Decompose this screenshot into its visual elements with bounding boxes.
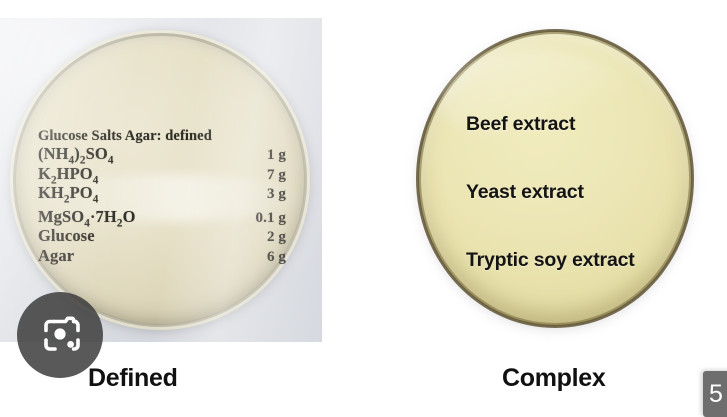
recipe-row: Glucose 2 g [38, 227, 288, 247]
recipe-title: Glucose Salts Agar: defined [38, 128, 288, 144]
defined-caption: Defined [88, 364, 178, 392]
defined-medium-recipe: Glucose Salts Agar: defined (NH4)2SO4 1 … [38, 128, 288, 267]
recipe-ingredient-name: (NH4)2SO4 [38, 145, 114, 164]
recipe-row: Agar 6 g [38, 247, 288, 267]
complex-petri-dish [418, 31, 692, 326]
camera-lens-icon [37, 314, 83, 356]
recipe-ingredient-amount: 7 g [267, 166, 288, 185]
complex-caption: Complex [502, 364, 605, 392]
recipe-row: MgSO4·7H2O 0.1 g [38, 208, 288, 228]
recipe-ingredient-amount: 3 g [267, 185, 288, 204]
recipe-ingredient-name: Glucose [38, 227, 95, 246]
recipe-ingredient-amount: 0.1 g [256, 209, 289, 228]
complex-dish-rim [416, 29, 694, 328]
complex-ingredient-label: Yeast extract [466, 181, 584, 203]
recipe-row: (NH4)2SO4 1 g [38, 145, 288, 165]
recipe-row: K2HPO4 7 g [38, 165, 288, 185]
recipe-ingredient-amount: 2 g [267, 228, 288, 247]
recipe-ingredient-name: KH2PO4 [38, 184, 98, 203]
recipe-ingredient-name: K2HPO4 [38, 165, 98, 184]
recipe-row: KH2PO4 3 g [38, 184, 288, 204]
complex-ingredient-label: Tryptic soy extract [466, 249, 635, 271]
recipe-ingredient-amount: 1 g [267, 146, 288, 165]
complex-ingredient-label: Beef extract [466, 113, 575, 135]
google-lens-button[interactable] [17, 292, 103, 378]
recipe-ingredient-amount: 6 g [267, 248, 288, 267]
recipe-ingredient-name: Agar [38, 247, 74, 266]
recipe-ingredient-name: MgSO4·7H2O [38, 208, 136, 227]
page-number-badge[interactable]: 5 [703, 371, 727, 417]
